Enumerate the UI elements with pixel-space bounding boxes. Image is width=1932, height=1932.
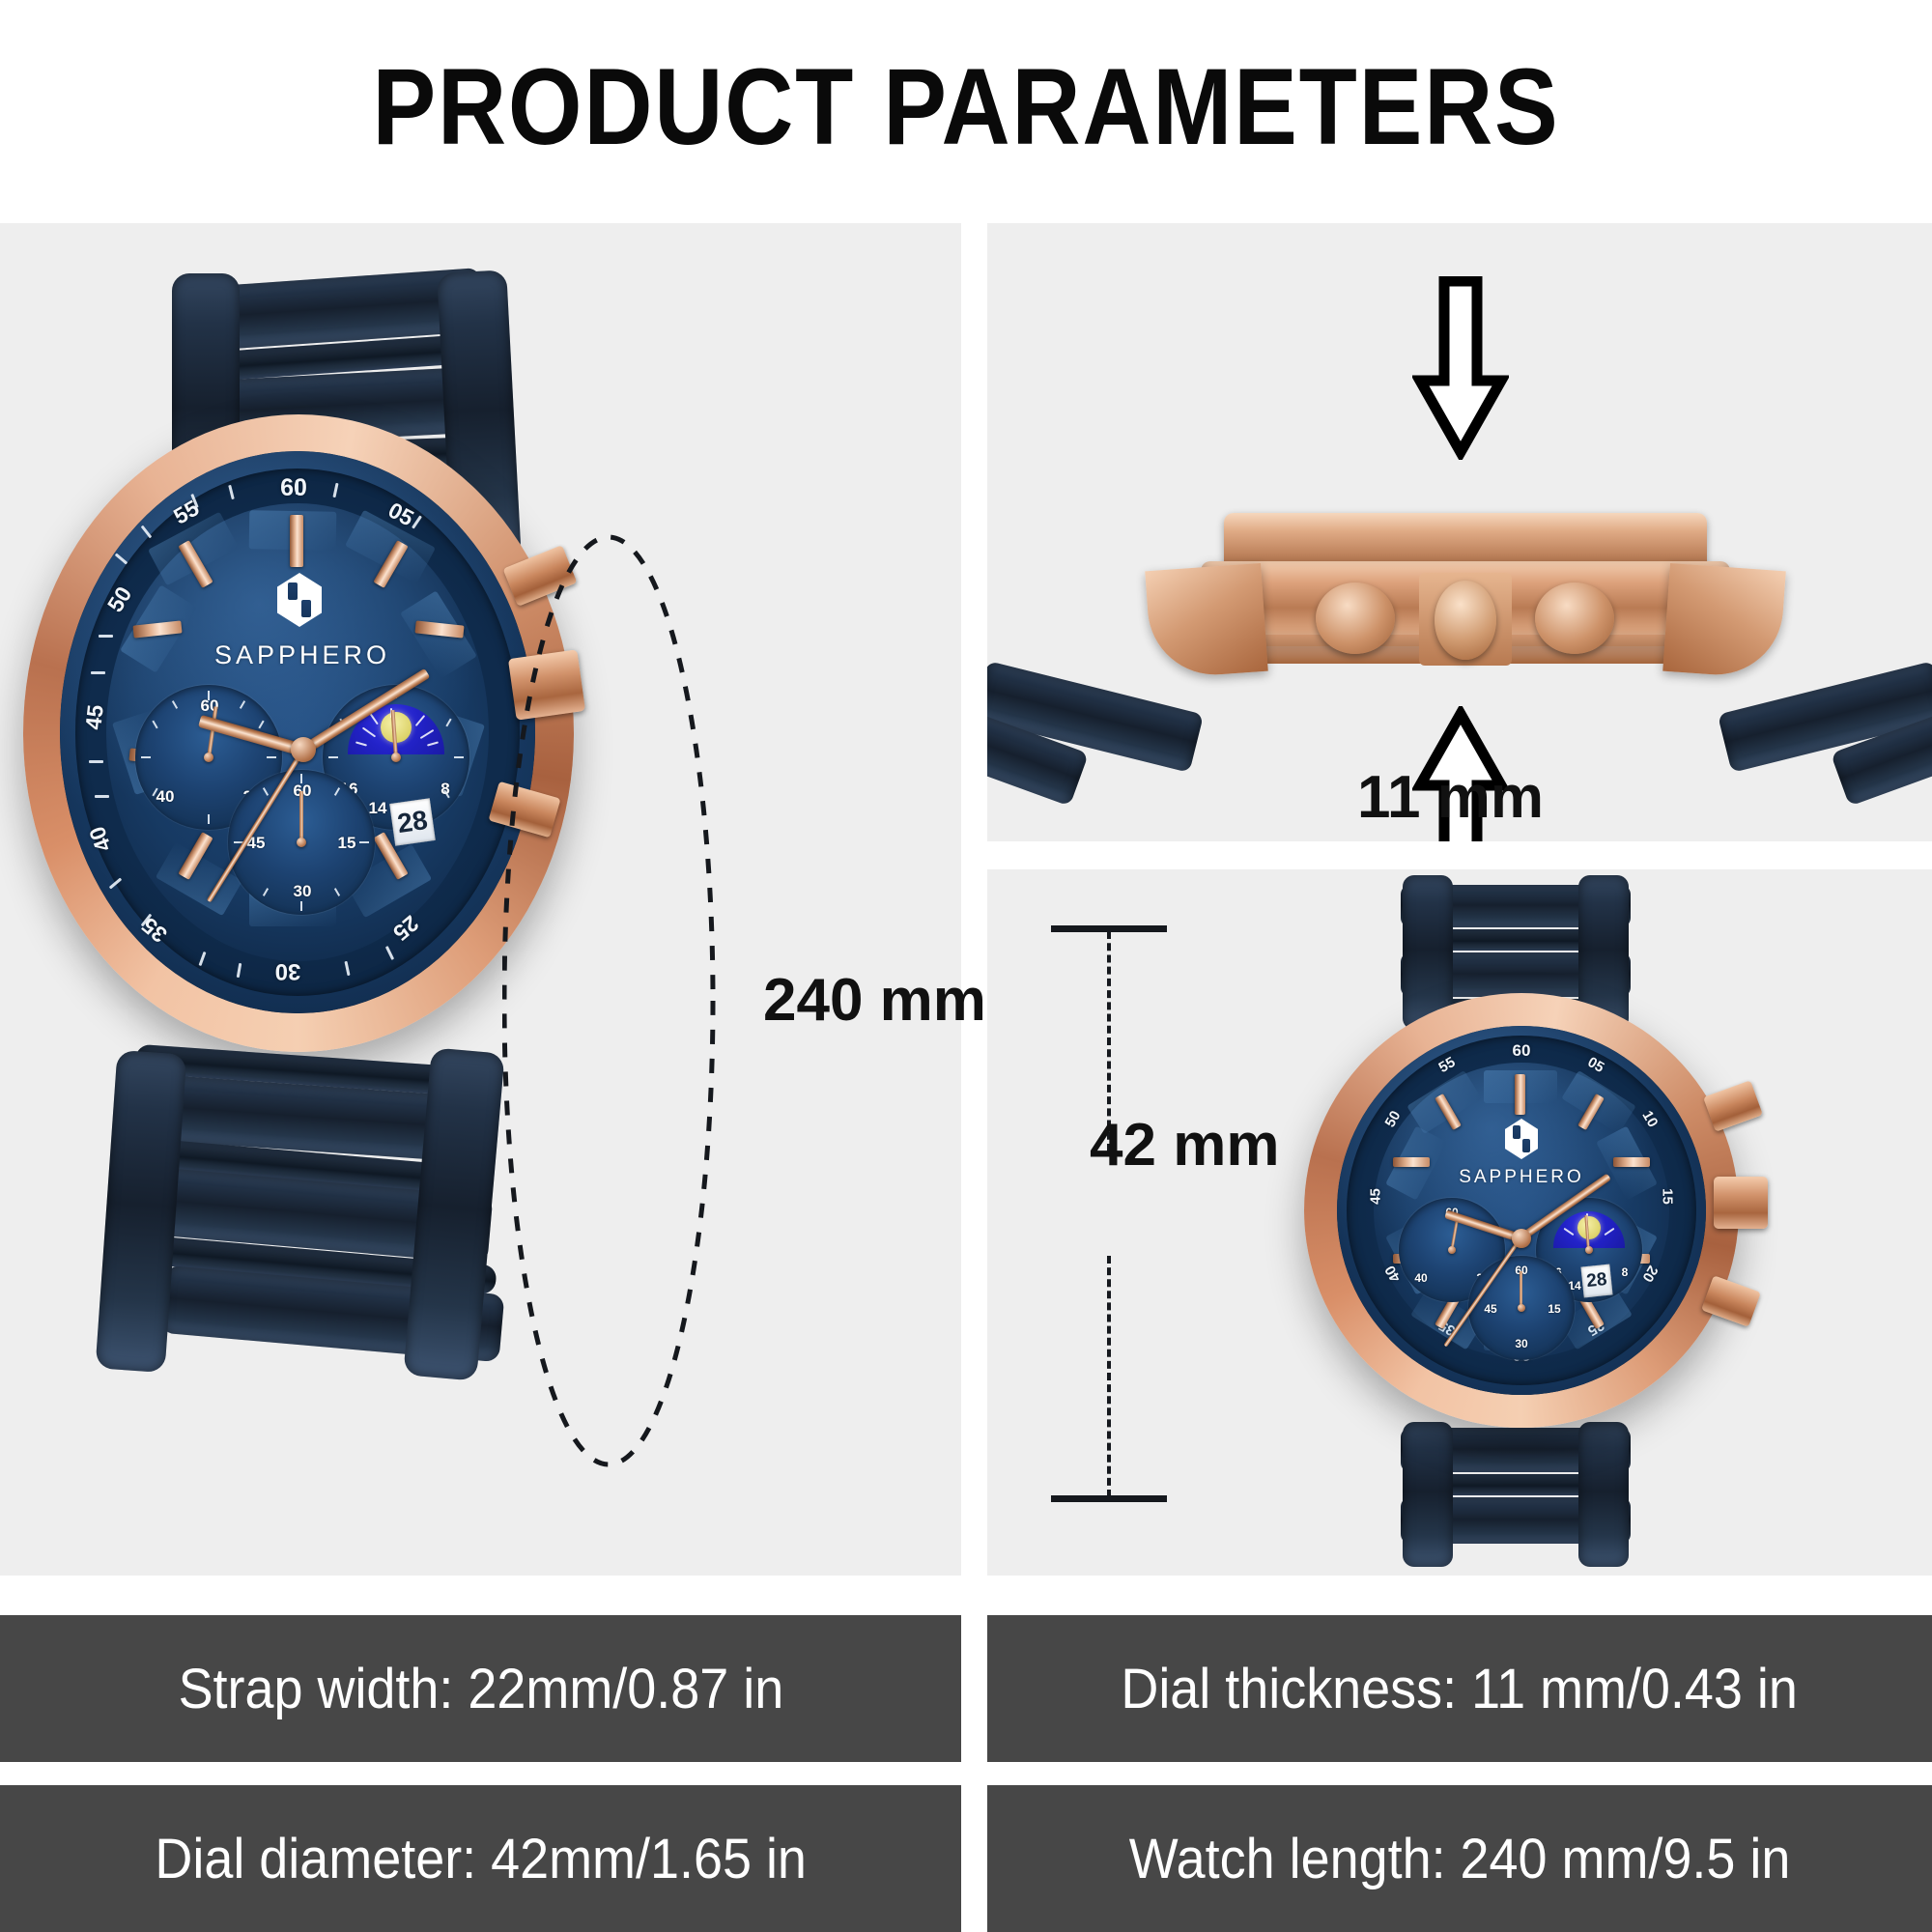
- ring-numeral-30: 30: [259, 957, 317, 984]
- wrist-loop-guide: [502, 494, 792, 1508]
- front-sub-bot-15: 15: [1542, 1302, 1567, 1316]
- panel-bracelet-dial-view: 60 05 55 50 45 40 35 30 25: [0, 223, 961, 1576]
- subdial-bottom-hand: [299, 791, 303, 843]
- front-ring-15: 15: [1660, 1176, 1676, 1218]
- case-side-profile: [1156, 513, 1775, 696]
- front-sub-left-40: 40: [1408, 1271, 1434, 1285]
- front-date-window: 28: [1580, 1264, 1612, 1298]
- watch-dial-area: 60 05 55 50 45 40 35 30 25: [60, 451, 535, 1013]
- caliper-cap-bottom: [1051, 1495, 1167, 1502]
- front-crown: [1714, 1177, 1768, 1229]
- front-moon-icon: [1577, 1216, 1601, 1239]
- label-strap-width-text: Strap width: 22mm/0.87 in: [178, 1657, 783, 1721]
- logo-s-glyph: [288, 582, 298, 600]
- label-watch-length: Watch length: 240 mm/9.5 in: [987, 1785, 1932, 1932]
- caliper-dash-lower: [1107, 1256, 1111, 1497]
- label-dial-diameter: Dial diameter: 42mm/1.65 in: [0, 1785, 961, 1932]
- arrow-down-icon: [1412, 276, 1509, 460]
- date-window: 28: [389, 798, 436, 845]
- panel-case-profile-view: [987, 223, 1932, 841]
- front-sub-right-8: 8: [1613, 1265, 1636, 1279]
- front-ring-45: 45: [1368, 1176, 1384, 1218]
- label-dial-diameter-text: Dial diameter: 42mm/1.65 in: [155, 1827, 807, 1891]
- subdial-bottom-num-15: 15: [332, 834, 361, 853]
- front-logo-s-glyph: [1513, 1125, 1520, 1139]
- page-title: PRODUCT PARAMETERS: [116, 50, 1816, 164]
- front-ring-60: 60: [1497, 1041, 1546, 1061]
- label-dial-thickness: Dial thickness: 11 mm/0.43 in: [987, 1615, 1932, 1762]
- front-bottom-pusher: [1701, 1275, 1761, 1326]
- ring-numeral-60: 60: [265, 474, 323, 502]
- label-watch-length-text: Watch length: 240 mm/9.5 in: [1129, 1827, 1791, 1891]
- front-sub-bot-45: 45: [1478, 1302, 1503, 1316]
- subdial-left-num-60: 60: [195, 696, 224, 716]
- subdial-bottom-num-30: 30: [288, 882, 317, 901]
- label-dial-thickness-text: Dial thickness: 11 mm/0.43 in: [1122, 1657, 1799, 1721]
- front-logo-s-glyph-2: [1522, 1139, 1530, 1152]
- front-dial-area: 60 05 10 15 20 25 30 35 40 45 50 55: [1337, 1026, 1706, 1395]
- front-brand-name: SAPPHERO: [1449, 1167, 1594, 1188]
- brand-name: SAPPHERO: [214, 640, 388, 670]
- front-top-pusher: [1703, 1080, 1763, 1131]
- front-subdial-bottom: 60 45 15 30: [1468, 1256, 1575, 1360]
- dimension-label-42mm: 42 mm: [1090, 1111, 1279, 1179]
- dimension-label-11mm: 11 mm: [1357, 763, 1544, 832]
- panel-full-watch-front-view: 60 05 10 15 20 25 30 35 40 45 50 55: [987, 869, 1932, 1576]
- ring-numeral-45: 45: [79, 691, 110, 744]
- label-strap-width: Strap width: 22mm/0.87 in: [0, 1615, 961, 1762]
- logo-s-glyph-2: [301, 600, 311, 617]
- front-sub-bot-30: 30: [1509, 1337, 1534, 1350]
- front-center-pin: [1512, 1229, 1531, 1248]
- watch-head-front: 60 05 10 15 20 25 30 35 40 45 50 55: [1294, 983, 1748, 1437]
- dimension-label-240mm: 240 mm: [763, 966, 986, 1035]
- center-pin: [291, 737, 316, 762]
- subdial-bottom-second-counter: 60 45 15 30: [228, 770, 375, 915]
